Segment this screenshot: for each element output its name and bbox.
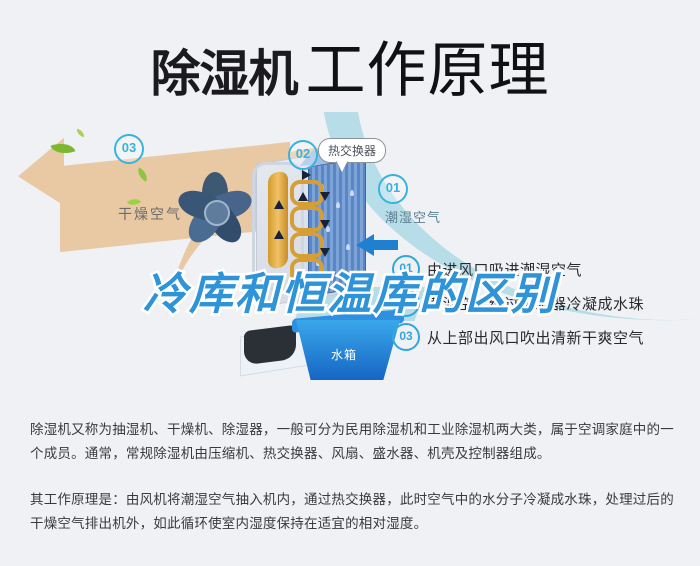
water-droplet-icon (336, 202, 340, 208)
diagram-badge-03: 03 (114, 134, 144, 164)
copper-coil-loop (290, 206, 324, 232)
heat-exchanger-callout: 热交换器 (318, 138, 386, 163)
leaf-icon (75, 129, 86, 138)
legend-item: 03 从上部出风口吹出清新干爽空气 (392, 320, 692, 354)
air-intake-arrow-tail (374, 240, 398, 250)
body-paragraph-1: 除湿机又称为抽湿机、干燥机、除湿器，一般可分为民用除湿机和工业除湿机两大类，属于… (30, 418, 676, 466)
water-droplet-icon (350, 190, 354, 196)
copper-coil-loop (290, 258, 324, 284)
process-steps-legend: 01 由进风口吸进潮湿空气 02 潮湿空气经过蒸发器冷凝成水珠 03 从上部出风… (392, 252, 692, 354)
water-droplet-icon (346, 244, 350, 250)
legend-text-01: 由进风口吸进潮湿空气 (427, 259, 582, 280)
compressor-cylinder (268, 170, 288, 269)
flow-arrow-down-icon (320, 248, 330, 257)
dry-air-label: 干燥空气 (118, 204, 182, 224)
flow-arrow-down-icon (320, 192, 330, 201)
diagram-badge-02: 02 (288, 140, 318, 170)
flow-arrow-up-icon (298, 192, 308, 201)
legend-badge-02: 02 (392, 289, 420, 317)
humid-air-label: 潮湿空气 (385, 207, 441, 226)
legend-text-03: 从上部出风口吹出清新干爽空气 (427, 327, 644, 348)
page-title-part1: 除湿机 (151, 46, 298, 102)
page-title: 除湿机工作原理 (0, 22, 700, 109)
callout-pointer-icon (336, 160, 348, 172)
legend-item: 02 潮湿空气经过蒸发器冷凝成水珠 (392, 286, 692, 320)
legend-badge-01: 01 (392, 255, 420, 283)
water-tank-label: 水箱 (331, 346, 357, 363)
body-paragraph-2: 其工作原理是：由风机将潮湿空气抽入机内，通过热交换器，此时空气中的水分子冷凝成水… (30, 488, 676, 536)
flow-arrow-up-icon (274, 200, 284, 209)
page-title-part2: 工作原理 (306, 37, 550, 104)
fan-hub (204, 200, 230, 226)
air-intake-arrow-icon (356, 234, 374, 256)
flow-arrow-up-icon (274, 230, 284, 239)
legend-item: 01 由进风口吸进潮湿空气 (392, 252, 692, 286)
legend-badge-03: 03 (392, 323, 420, 351)
copper-coil-loop (290, 232, 324, 258)
flow-arrow-right-icon (302, 170, 311, 180)
diagram-badge-01: 01 (378, 174, 408, 204)
legend-text-02: 潮湿空气经过蒸发器冷凝成水珠 (427, 293, 644, 314)
flow-arrow-down-icon (320, 220, 330, 229)
